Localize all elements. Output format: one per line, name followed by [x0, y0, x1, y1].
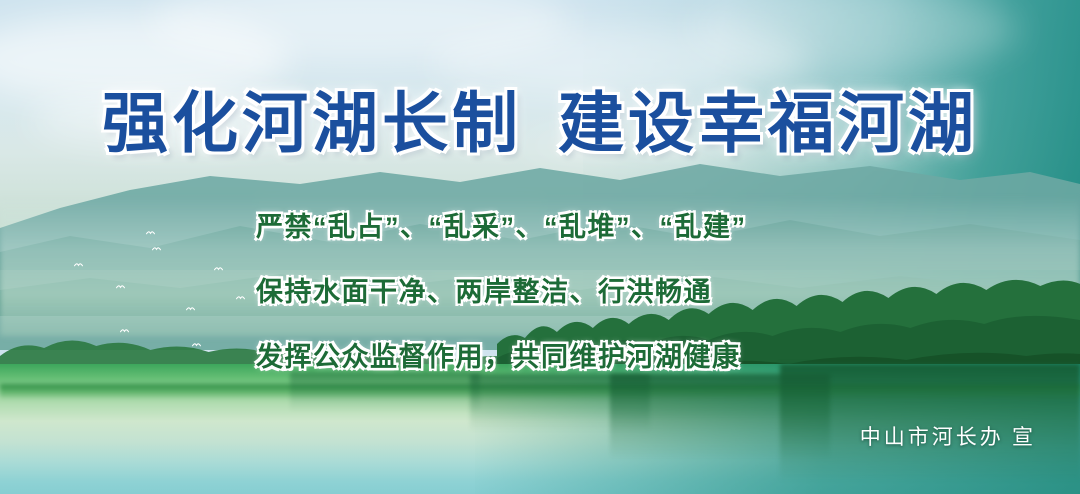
poster-signature: 中山市河长办 宣	[860, 421, 1036, 451]
bird-icon	[152, 246, 161, 251]
water-reflection	[290, 372, 480, 412]
water-reflection	[470, 374, 650, 432]
bird-icon	[186, 306, 195, 311]
bird-icon	[74, 262, 83, 267]
bird-icon	[146, 230, 155, 235]
headline-part-1: 强化河湖长制	[102, 88, 522, 161]
poster-body-text: 严禁“乱占”、“乱采”、“乱堆”、“乱建” 保持水面干净、两岸整洁、行洪畅通 发…	[256, 214, 747, 371]
bird-icon	[116, 284, 125, 289]
bird-icon	[236, 295, 245, 300]
bird-icon	[214, 266, 223, 271]
headline-part-2: 建设幸福河湖	[558, 88, 978, 161]
poster-banner: 强化河湖长制建设幸福河湖 严禁“乱占”、“乱采”、“乱堆”、“乱建” 保持水面干…	[0, 0, 1080, 494]
poster-headline: 强化河湖长制建设幸福河湖	[0, 92, 1080, 158]
body-line-1: 严禁“乱占”、“乱采”、“乱堆”、“乱建”	[256, 214, 747, 241]
body-line-3: 发挥公众监督作用，共同维护河湖健康	[256, 344, 747, 371]
body-line-2: 保持水面干净、两岸整洁、行洪畅通	[256, 279, 747, 306]
